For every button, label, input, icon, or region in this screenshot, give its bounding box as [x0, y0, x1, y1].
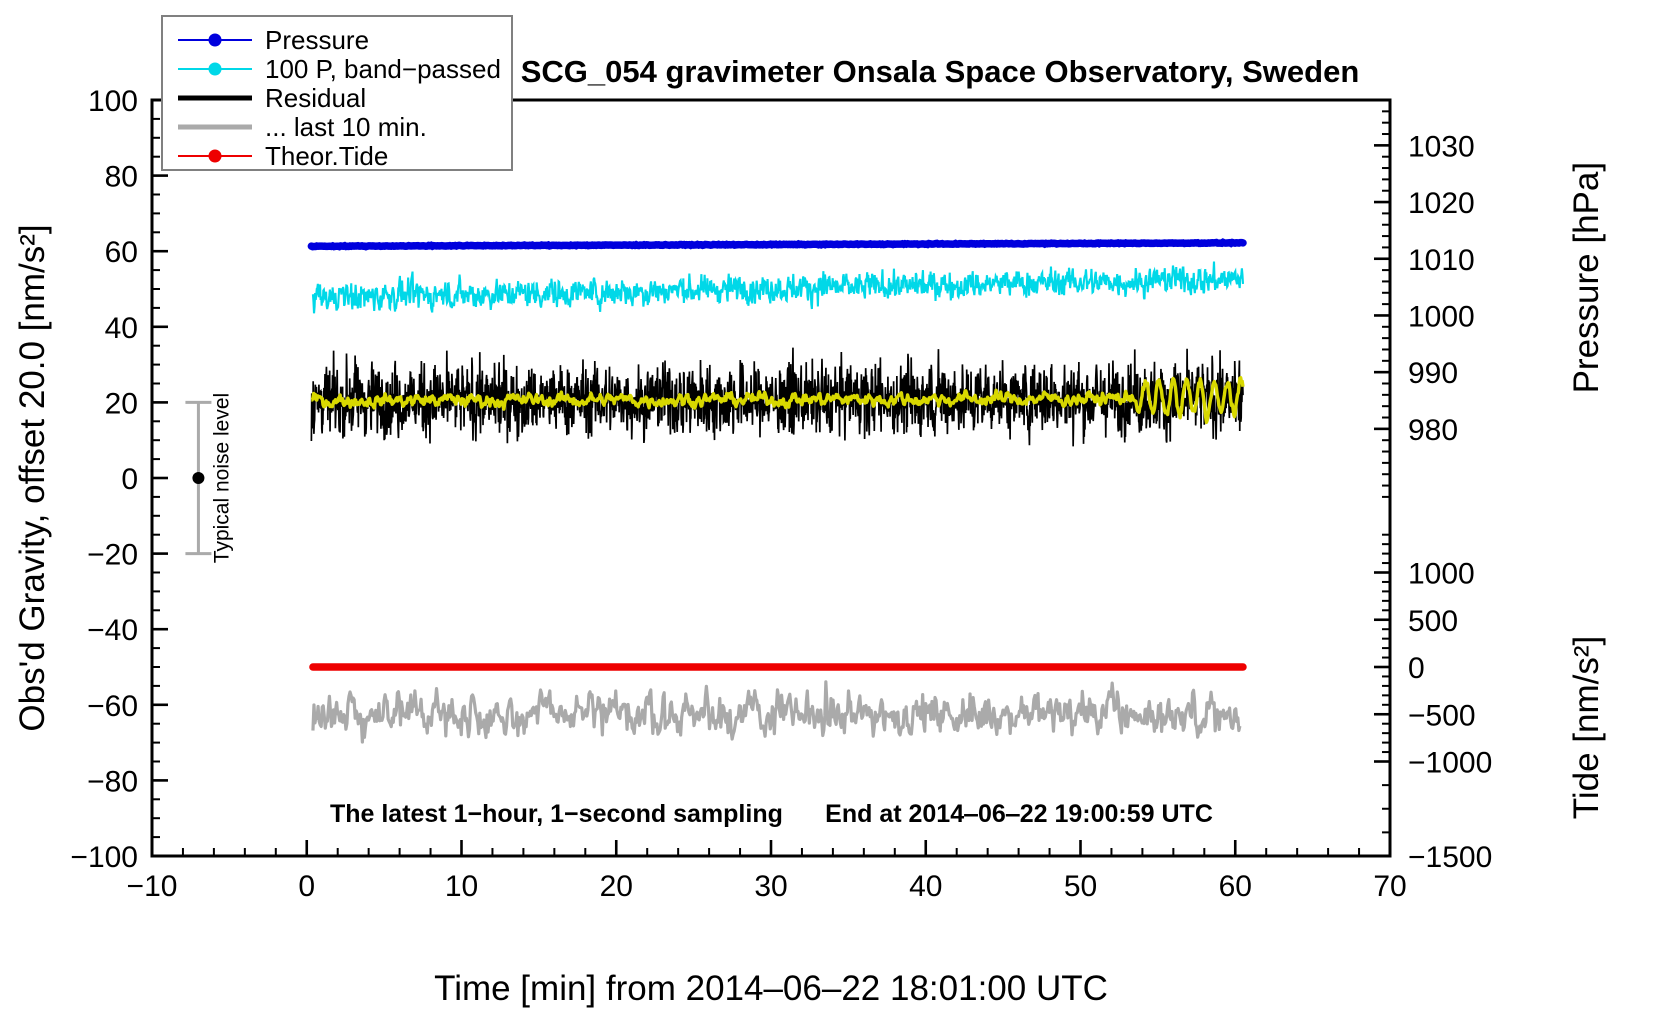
plot-frame	[152, 100, 1390, 856]
tide-tick-label: −1000	[1408, 747, 1492, 780]
pressure-tick-label: 990	[1408, 357, 1458, 390]
chart-title: SCG_054 gravimeter Onsala Space Observat…	[521, 54, 1360, 89]
x-tick-label: 10	[445, 870, 478, 903]
tide-tick-label: 1000	[1408, 558, 1475, 591]
legend-marker-dot	[209, 150, 222, 163]
noise-bar-center-dot	[192, 472, 204, 484]
tide-tick-label: −1500	[1408, 841, 1492, 874]
x-tick-label: 40	[909, 870, 942, 903]
tide-tick-label: 0	[1408, 652, 1425, 685]
legend-item-label: 100 P, band−passed	[265, 54, 501, 84]
pressure-axis-title: Pressure [hPa]	[1567, 162, 1606, 394]
legend-item-label: Pressure	[265, 25, 369, 55]
sampling-note: The latest 1−hour, 1−second sampling	[330, 800, 783, 828]
y-tick-label: 0	[121, 463, 138, 496]
pressure-tick-label: 1030	[1408, 130, 1475, 163]
y-tick-label: 80	[105, 161, 138, 194]
tide-axis-title: Tide [nm/s²]	[1567, 636, 1606, 819]
gravimeter-plot-page: −10010203040506070Time [min] from 2014‒0…	[0, 0, 1660, 1020]
x-tick-label: 60	[1219, 870, 1252, 903]
gravimeter-chart: −10010203040506070Time [min] from 2014‒0…	[0, 0, 1660, 1020]
legend-marker-dot	[209, 63, 222, 76]
series-last-10-min	[313, 682, 1240, 742]
x-tick-label: −10	[127, 870, 178, 903]
pressure-tick-label: 1020	[1408, 187, 1475, 220]
end-time-note: End at 2014‒06‒22 19:00:59 UTC	[825, 800, 1213, 828]
x-tick-label: 70	[1373, 870, 1406, 903]
y-tick-label: 40	[105, 312, 138, 345]
x-tick-label: 50	[1064, 870, 1097, 903]
y-tick-label: −40	[87, 614, 138, 647]
series-pressure	[311, 242, 1243, 246]
pressure-tick-label: 980	[1408, 414, 1458, 447]
tide-tick-label: 500	[1408, 605, 1458, 638]
y-tick-label: 100	[88, 85, 138, 118]
y-tick-label: −80	[87, 765, 138, 798]
pressure-tick-label: 1000	[1408, 300, 1475, 333]
legend-item-label: Residual	[265, 83, 366, 113]
y-tick-label: 60	[105, 236, 138, 269]
y-tick-label: −60	[87, 690, 138, 723]
series-band-passed	[313, 262, 1243, 314]
legend-item-label: Theor.Tide	[265, 141, 388, 171]
tide-tick-label: −500	[1408, 699, 1476, 732]
y-axis-title: Obs'd Gravity, offset 20.0 [nm/s²]	[13, 224, 52, 731]
y-tick-label: 20	[105, 387, 138, 420]
noise-bar-label: Typical noise level	[210, 393, 233, 563]
x-tick-label: 30	[754, 870, 787, 903]
x-axis-title: Time [min] from 2014‒06‒22 18:01:00 UTC	[434, 969, 1108, 1008]
pressure-tick-label: 1010	[1408, 244, 1475, 277]
legend-item-label: ... last 10 min.	[265, 112, 427, 142]
y-tick-label: −100	[70, 841, 138, 874]
y-tick-label: −20	[87, 539, 138, 572]
legend-marker-dot	[209, 34, 222, 47]
x-tick-label: 0	[298, 870, 315, 903]
x-tick-label: 20	[600, 870, 633, 903]
